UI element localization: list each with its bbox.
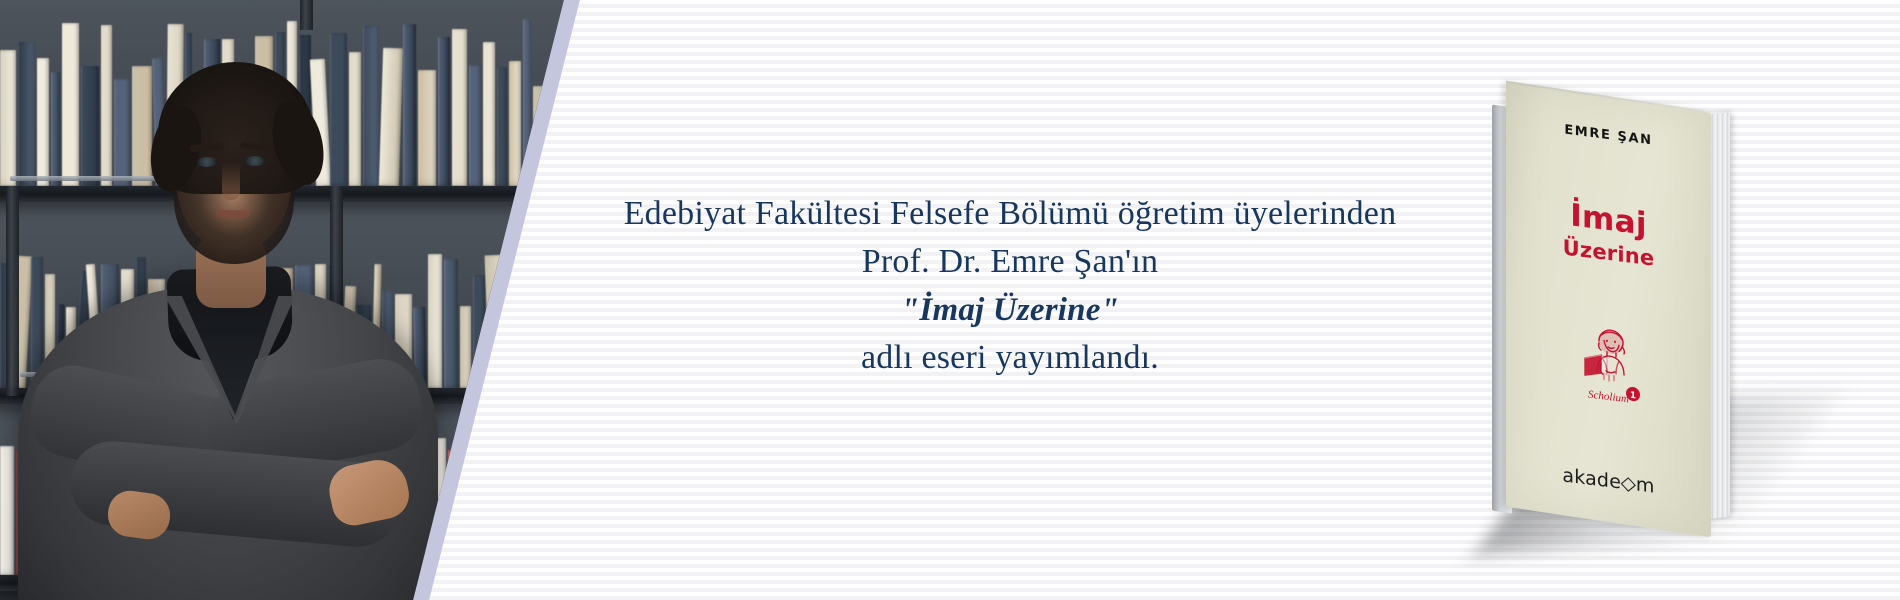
book-author-name: EMRE ŞAN [1564, 123, 1652, 149]
headline-block: Edebiyat Fakültesi Felsefe Bölümü öğreti… [560, 190, 1460, 382]
headline-line-2: Prof. Dr. Emre Şan'ın [560, 238, 1460, 286]
publisher-text-part1: akade [1562, 464, 1621, 493]
publisher-text-part2: m [1636, 473, 1655, 497]
scholium-emblem-icon: 1 Scholium [1573, 323, 1645, 406]
eye [245, 156, 265, 166]
mouth [216, 210, 250, 217]
headline-line-4: adlı eseri yayımlandı. [560, 334, 1460, 382]
book-front-cover: EMRE ŞAN İmaj Üzerine [1506, 83, 1711, 538]
headline-line-1: Edebiyat Fakültesi Felsefe Bölümü öğreti… [560, 190, 1460, 238]
headline-book-title: "İmaj Üzerine" [560, 286, 1460, 334]
publisher-ligature-icon: ◇ [1621, 472, 1637, 496]
news-banner: Edebiyat Fakültesi Felsefe Bölümü öğreti… [0, 0, 1900, 600]
book-cover-image: EMRE ŞAN İmaj Üzerine [1480, 98, 1780, 528]
eye [197, 157, 217, 167]
book-title: İmaj [1570, 200, 1647, 239]
book-publisher-logo: akade◇m [1506, 457, 1711, 504]
nose [222, 162, 240, 200]
